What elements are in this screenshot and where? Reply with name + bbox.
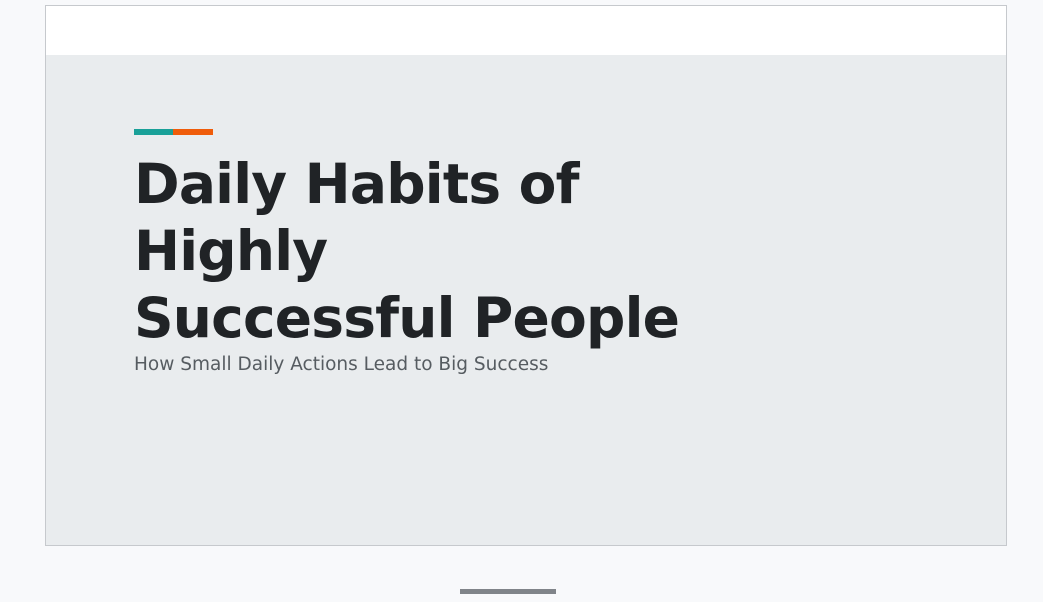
slide-viewer-card: Daily Habits of Highly Successful People… bbox=[45, 5, 1007, 546]
horizontal-scrollbar-thumb[interactable] bbox=[460, 589, 556, 594]
accent-rule bbox=[134, 129, 213, 135]
slide-title: Daily Habits of Highly Successful People bbox=[134, 151, 754, 352]
slide-canvas[interactable]: Daily Habits of Highly Successful People… bbox=[46, 55, 1006, 545]
slide-viewer-topbar bbox=[46, 6, 1006, 55]
accent-rule-orange-segment bbox=[173, 129, 213, 135]
slide-subtitle: How Small Daily Actions Lead to Big Succ… bbox=[134, 352, 774, 378]
accent-rule-teal-segment bbox=[134, 129, 173, 135]
slide-content-area: Daily Habits of Highly Successful People… bbox=[134, 55, 966, 545]
horizontal-scrollbar-track[interactable] bbox=[45, 586, 1007, 597]
